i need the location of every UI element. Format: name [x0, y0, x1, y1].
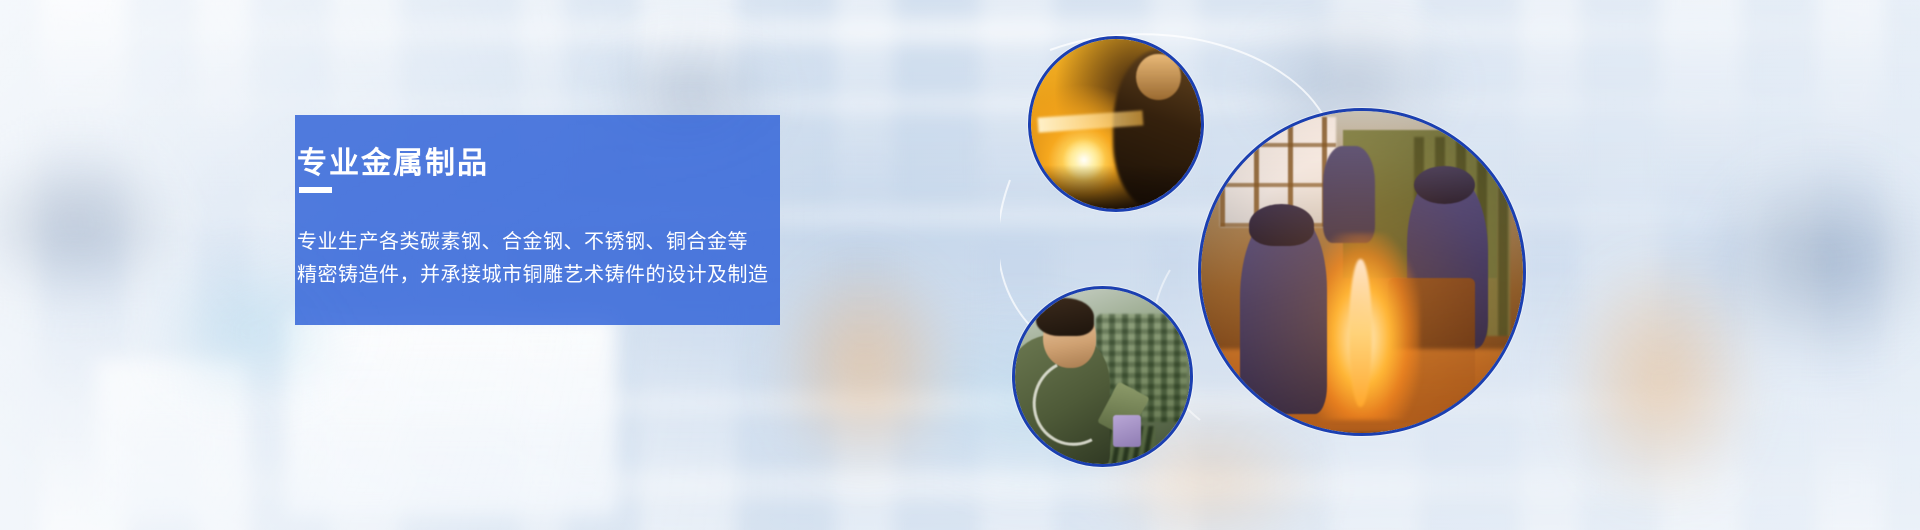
foundry-photo: [1198, 108, 1526, 436]
description-line-2: 精密铸造件，并承接城市铜雕艺术铸件的设计及制造: [297, 258, 937, 291]
hero-banner: 专业金属制品 专业生产各类碳素钢、合金钢、不锈钢、铜合金等 精密铸造件，并承接城…: [0, 0, 1920, 530]
panel-description: 专业生产各类碳素钢、合金钢、不锈钢、铜合金等 精密铸造件，并承接城市铜雕艺术铸件…: [297, 225, 937, 291]
title-divider: [299, 187, 332, 193]
copy-block: 专业金属制品 专业生产各类碳素钢、合金钢、不锈钢、铜合金等 精密铸造件，并承接城…: [297, 115, 937, 330]
welding-photo: [1028, 36, 1204, 212]
assembly-photo: [1012, 286, 1193, 467]
photo-medallion-group: [0, 0, 1920, 530]
panel-title: 专业金属制品: [297, 138, 489, 182]
description-line-1: 专业生产各类碳素钢、合金钢、不锈钢、铜合金等: [297, 225, 937, 258]
